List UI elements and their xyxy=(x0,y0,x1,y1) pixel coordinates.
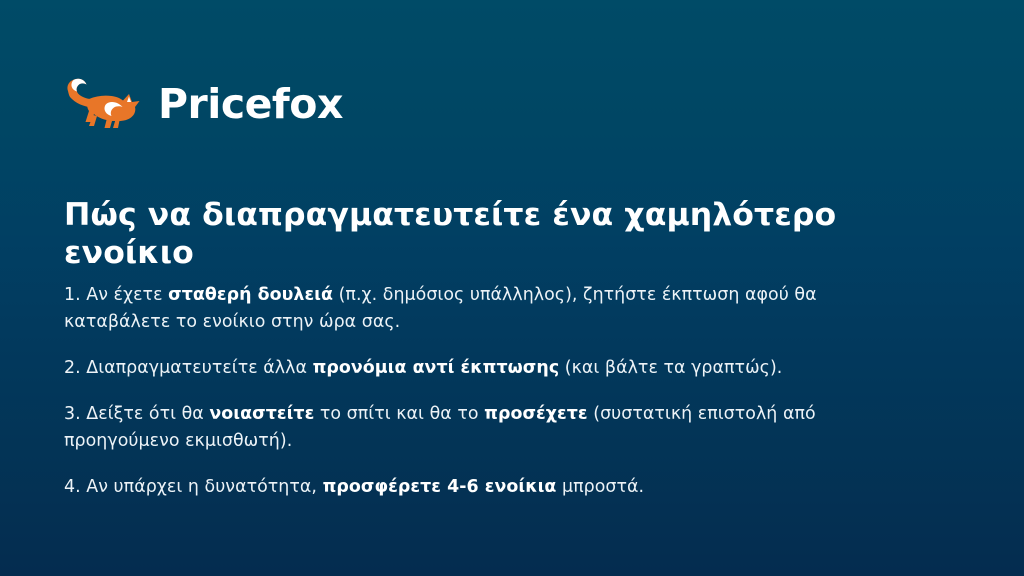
slide-title: Πώς να διαπραγματευτείτε ένα χαμηλότερο … xyxy=(64,196,964,273)
body-text: 1. Αν έχετε xyxy=(64,285,168,305)
logo-wordmark: Pricefox xyxy=(158,84,343,125)
list-item: 2. Διαπραγματευτείτε άλλα προνόμια αντί … xyxy=(64,355,894,382)
emphasis-text: σταθερή δουλειά xyxy=(168,285,333,305)
emphasis-text: προσέχετε xyxy=(484,404,588,424)
body-text: 3. Δείξτε ότι θα xyxy=(64,404,209,424)
body-text: (και βάλτε τα γραπτώς). xyxy=(559,358,782,378)
body-text: 4. Αν υπάρχει η δυνατότητα, xyxy=(64,477,323,497)
slide-canvas: Pricefox Πώς να διαπραγματευτείτε ένα χα… xyxy=(0,0,1024,576)
list-item: 1. Αν έχετε σταθερή δουλειά (π.χ. δημόσι… xyxy=(64,282,894,336)
emphasis-text: προσφέρετε 4-6 ενοίκια xyxy=(323,477,557,497)
pricefox-logo[interactable]: Pricefox xyxy=(64,74,343,132)
emphasis-text: προνόμια αντί έκπτωσης xyxy=(313,358,560,378)
list-item: 4. Αν υπάρχει η δυνατότητα, προσφέρετε 4… xyxy=(64,474,894,501)
body-text: μπροστά. xyxy=(556,477,644,497)
tips-list: 1. Αν έχετε σταθερή δουλειά (π.χ. δημόσι… xyxy=(64,282,894,501)
running-fox-icon xyxy=(64,76,146,130)
list-item: 3. Δείξτε ότι θα νοιαστείτε το σπίτι και… xyxy=(64,401,894,455)
emphasis-text: νοιαστείτε xyxy=(209,404,314,424)
body-text: 2. Διαπραγματευτείτε άλλα xyxy=(64,358,313,378)
body-text: το σπίτι και θα το xyxy=(314,404,484,424)
